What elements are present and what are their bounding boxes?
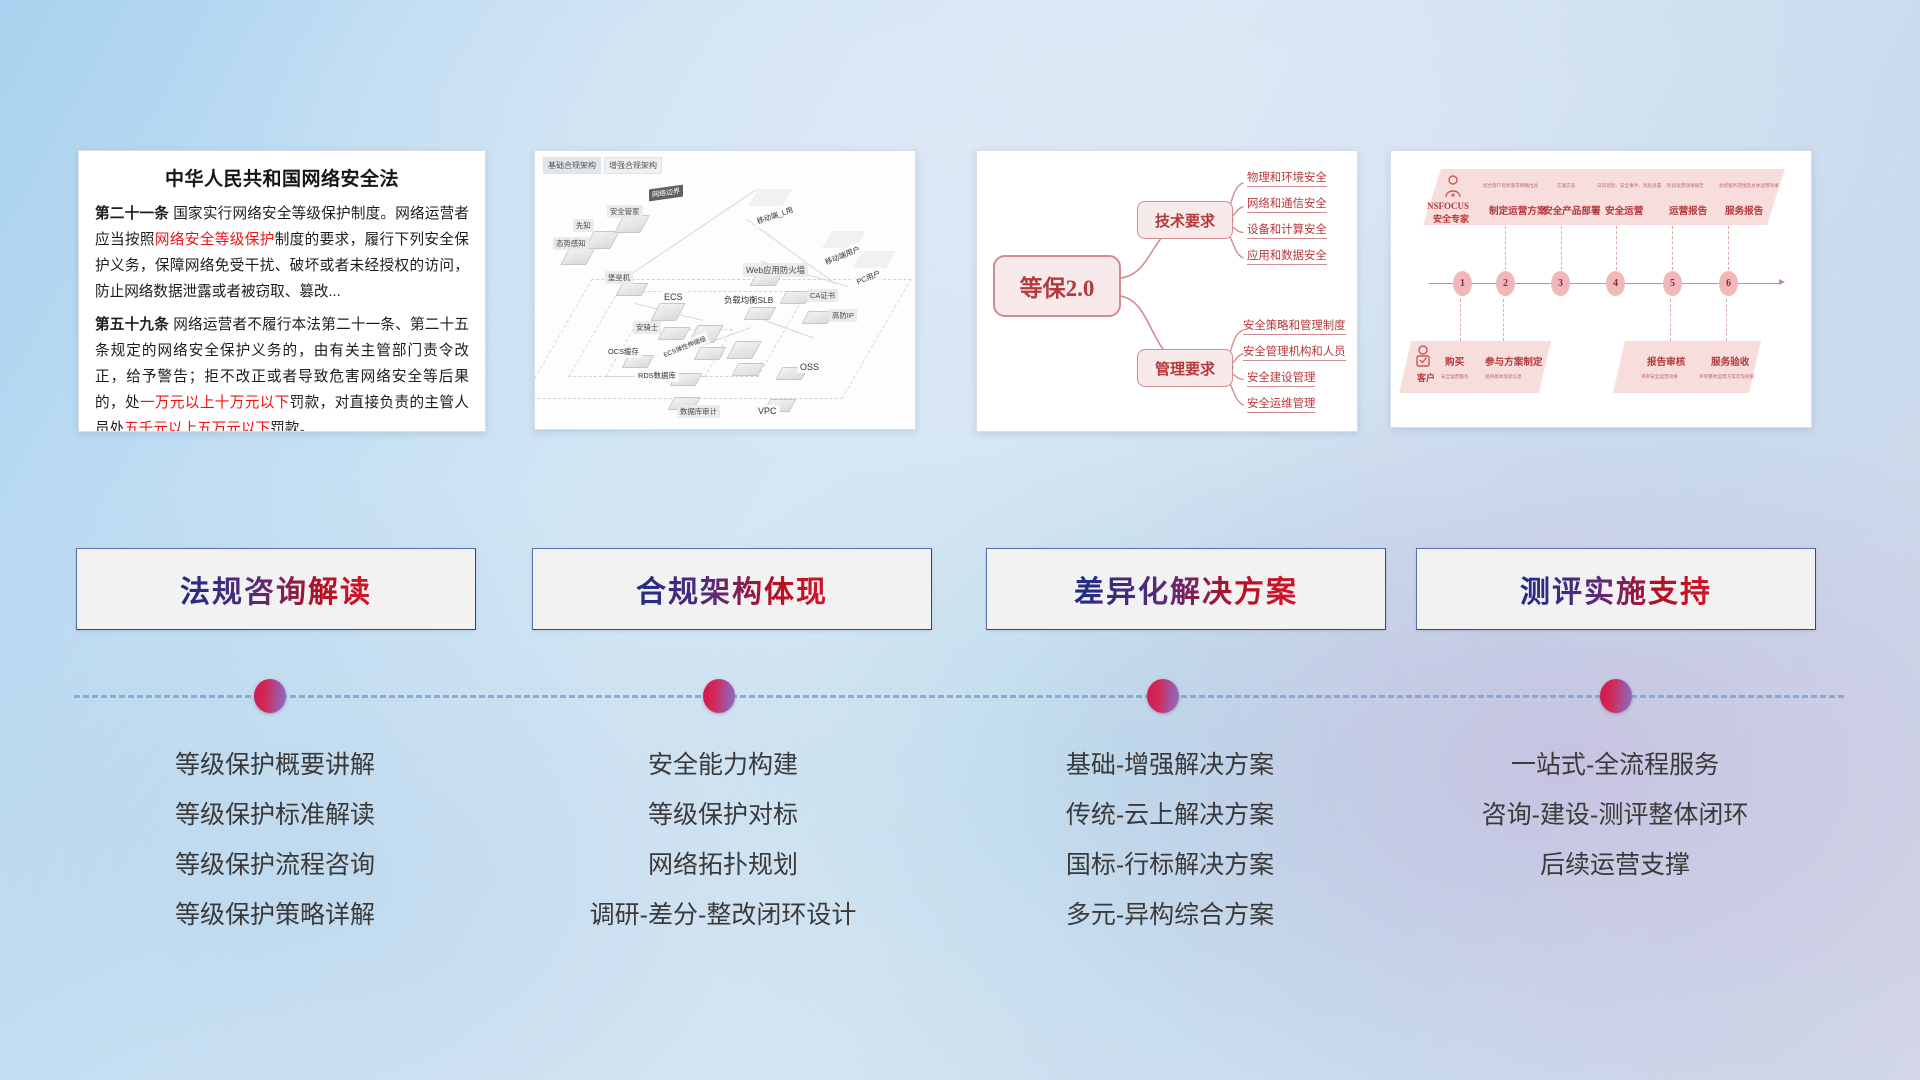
- list-item: 等级保护策略详解: [60, 890, 490, 940]
- architecture-diagram: 基础合规架构 增强合规架构: [535, 151, 915, 429]
- process-axis-arrow-icon: [1779, 279, 1785, 285]
- process-bottom-sub-5: 评审安全运营效果: [1641, 374, 1678, 380]
- customer-person-icon: [1413, 345, 1433, 369]
- list-item: 等级保护标准解读: [60, 790, 490, 840]
- process-title-2: 制定运营方案: [1489, 203, 1547, 217]
- process-bottom-title-2: 参与方案制定: [1485, 354, 1543, 368]
- list-item: 调研-差分-整改闭环设计: [508, 890, 938, 940]
- process-node-4[interactable]: 4: [1606, 271, 1625, 296]
- article-59-highlight-2: 五千元以上五万元以下: [124, 421, 270, 432]
- list-item: 安全能力构建: [508, 740, 938, 790]
- feature-list-4: 一站式-全流程服务 咨询-建设-测评整体闭环 后续运营支撑: [1400, 740, 1830, 890]
- process-sub-5: 阶段运营效果报告: [1667, 183, 1704, 189]
- feature-list-2: 安全能力构建 等级保护对标 网络拓扑规划 调研-差分-整改闭环设计: [508, 740, 938, 940]
- process-title-4: 安全运营: [1605, 203, 1643, 217]
- process-node-2[interactable]: 2: [1496, 271, 1515, 296]
- slide-canvas: 中华人民共和国网络安全法 第二十一条 国家实行网络安全等级保护制度。网络运营者应…: [0, 0, 1920, 1080]
- arch-label-gaofangip: 高防IP: [829, 309, 857, 322]
- dengbao-mindmap: 等保2.0 技术要求 管理要求 物理和环境安全 网络和通信安全 设备和计算安全 …: [977, 151, 1357, 431]
- process-sub-4: 日常巡检、安全事件、高危处置: [1597, 183, 1661, 189]
- list-item: 一站式-全流程服务: [1400, 740, 1830, 790]
- banner-label-1: 法规咨询解读: [180, 567, 372, 611]
- mindmap-leaf-construction-mgmt: 安全建设管理: [1247, 369, 1315, 387]
- mindmap-branch-management[interactable]: 管理要求: [1137, 349, 1233, 387]
- timeline-dashed-line: [74, 695, 1844, 698]
- process-title-3: 安全产品部署: [1543, 203, 1601, 217]
- mindmap-root-node[interactable]: 等保2.0: [993, 255, 1121, 317]
- banner-label-4: 测评实施支持: [1520, 567, 1712, 611]
- list-item: 基础-增强解决方案: [955, 740, 1385, 790]
- arch-label-vpc: VPC: [755, 405, 780, 417]
- mindmap-leaf-network-comm: 网络和通信安全: [1247, 195, 1327, 213]
- arch-label-guanjia: 安全管家: [607, 205, 643, 218]
- list-item: 传统-云上解决方案: [955, 790, 1385, 840]
- process-node-6[interactable]: 6: [1719, 271, 1738, 296]
- process-connector-5-down: [1670, 299, 1671, 341]
- process-connector-6-down: [1726, 299, 1727, 341]
- customer-label: 客户: [1417, 371, 1435, 384]
- banner-differentiated-solution[interactable]: 差异化解决方案: [986, 548, 1386, 630]
- banner-compliance-architecture[interactable]: 合规架构体现: [532, 548, 932, 630]
- process-bottom-sub-1: 安全运营服务: [1441, 374, 1469, 380]
- expert-person-icon: [1443, 175, 1463, 199]
- process-node-5[interactable]: 5: [1663, 271, 1682, 296]
- arch-label-db-audit: 数据库审计: [677, 405, 720, 418]
- article-21-label: 第二十一条: [95, 206, 169, 222]
- law-article-21: 第二十一条 国家实行网络安全等级保护制度。网络运营者应当按照网络安全等级保护制度…: [95, 202, 469, 306]
- law-document-title: 中华人民共和国网络安全法: [95, 164, 469, 191]
- expert-label-line1: NSFOCUS: [1427, 201, 1469, 211]
- expert-label-line2: 安全专家: [1433, 212, 1469, 225]
- list-item: 等级保护对标: [508, 790, 938, 840]
- arch-label-rds: RDS数据库: [635, 369, 679, 382]
- arch-label-mobile-l: 移动端_L用: [752, 202, 798, 229]
- process-bottom-title-6: 服务验收: [1711, 354, 1749, 368]
- process-bottom-title-1: 购买: [1445, 354, 1464, 368]
- banner-label-2: 合规架构体现: [636, 567, 828, 611]
- feature-list-3: 基础-增强解决方案 传统-云上解决方案 国标-行标解决方案 多元-异构综合方案: [955, 740, 1385, 940]
- article-59-text-c: 罚款。: [270, 421, 314, 432]
- service-process-card[interactable]: NSFOCUS 安全专家 结合客户现状需求明确出具 制定运营方案 实施方案 安全…: [1390, 150, 1812, 428]
- mindmap-leaf-device-compute: 设备和计算安全: [1247, 221, 1327, 239]
- process-bottom-sub-2: 提供基本现状信息: [1485, 374, 1522, 380]
- arch-label-bastion: 堡垒机: [605, 271, 633, 284]
- banner-regulation-consulting[interactable]: 法规咨询解读: [76, 548, 476, 630]
- process-bottom-sub-6: 评审整体运营方案实现效果: [1699, 374, 1754, 380]
- arch-label-waf: Web应用防火墙: [743, 263, 808, 277]
- timeline-dot-4[interactable]: [1600, 679, 1632, 713]
- list-item: 多元-异构综合方案: [955, 890, 1385, 940]
- process-node-3[interactable]: 3: [1551, 271, 1570, 296]
- arch-label-oss: OSS: [797, 361, 822, 373]
- mindmap-leaf-app-data: 应用和数据安全: [1247, 247, 1327, 265]
- article-59-label: 第五十九条: [95, 317, 169, 333]
- mindmap-leaf-physical-env: 物理和环境安全: [1247, 169, 1327, 187]
- arch-label-network-boundary: 网络边界: [649, 185, 683, 202]
- process-sub-3: 实施方案: [1557, 183, 1575, 189]
- process-bottom-title-5: 报告审核: [1647, 354, 1685, 368]
- process-sub-2: 结合客户现状需求明确出具: [1483, 183, 1538, 189]
- process-connector-2-down: [1503, 299, 1504, 341]
- process-connector-1-down: [1460, 299, 1461, 341]
- process-connector-2: [1505, 226, 1506, 270]
- process-connector-6: [1728, 226, 1729, 270]
- mindmap-branch-technical[interactable]: 技术要求: [1137, 201, 1233, 239]
- law-document-card[interactable]: 中华人民共和国网络安全法 第二十一条 国家实行网络安全等级保护制度。网络运营者应…: [78, 150, 486, 432]
- arch-cube-xianzhi: [584, 231, 620, 249]
- mindmap-leaf-org-personnel: 安全管理机构和人员: [1243, 343, 1346, 361]
- article-59-highlight-1: 一万元以上十万元以下: [140, 395, 290, 411]
- timeline-dot-2[interactable]: [703, 679, 735, 713]
- timeline-dot-3[interactable]: [1147, 679, 1179, 713]
- process-connector-3: [1561, 226, 1562, 270]
- list-item: 等级保护流程咨询: [60, 840, 490, 890]
- nsfocus-process-diagram: NSFOCUS 安全专家 结合客户现状需求明确出具 制定运营方案 实施方案 安全…: [1391, 151, 1811, 427]
- list-item: 咨询-建设-测评整体闭环: [1400, 790, 1830, 840]
- mindmap-leaf-ops-mgmt: 安全运维管理: [1247, 395, 1315, 413]
- arch-label-xianzhi: 先知: [573, 219, 594, 232]
- arch-label-anqishi: 安骑士: [633, 321, 661, 334]
- feature-list-1: 等级保护概要讲解 等级保护标准解读 等级保护流程咨询 等级保护策略详解: [60, 740, 490, 940]
- process-title-5: 运营报告: [1669, 203, 1707, 217]
- arch-plate-mobile: [748, 189, 792, 206]
- list-item: 等级保护概要讲解: [60, 740, 490, 790]
- arch-label-slb: 负载均衡SLB: [721, 293, 776, 307]
- banner-assessment-support[interactable]: 测评实施支持: [1416, 548, 1816, 630]
- cloud-architecture-card[interactable]: 基础合规架构 增强合规架构: [534, 150, 916, 430]
- law-document-body: 中华人民共和国网络安全法 第二十一条 国家实行网络安全等级保护制度。网络运营者应…: [79, 151, 485, 431]
- arch-link-1: [623, 190, 756, 280]
- arch-label-ecs: ECS: [661, 291, 686, 303]
- process-connector-5: [1672, 226, 1673, 270]
- process-connector-4: [1616, 226, 1617, 270]
- law-article-59: 第五十九条 网络运营者不履行本法第二十一条、第二十五条规定的网络安全保护义务的，…: [95, 313, 469, 432]
- list-item: 网络拓扑规划: [508, 840, 938, 890]
- arch-label-ocs: OCS缓存: [605, 345, 642, 358]
- architecture-canvas: 网络边界 态势感知 先知 安全管家 移动端_L用 堡垒机 ECS 安骑士 Web…: [535, 151, 915, 429]
- banner-label-3: 差异化解决方案: [1074, 567, 1298, 611]
- timeline-dot-1[interactable]: [254, 679, 286, 713]
- list-item: 国标-行标解决方案: [955, 840, 1385, 890]
- mindmap-leaf-policy-system: 安全策略和管理制度: [1243, 317, 1346, 335]
- list-item: 后续运营支撑: [1400, 840, 1830, 890]
- process-title-6: 服务报告: [1725, 203, 1763, 217]
- mindmap-card[interactable]: 等保2.0 技术要求 管理要求 物理和环境安全 网络和通信安全 设备和计算安全 …: [976, 150, 1358, 432]
- arch-label-situational: 态势感知: [553, 237, 589, 250]
- arch-label-ca: CA证书: [807, 289, 838, 302]
- process-node-1[interactable]: 1: [1453, 271, 1472, 296]
- process-sub-6: 总结服务范围及总体运营效果: [1719, 183, 1779, 189]
- article-21-highlight: 网络安全等级保护: [155, 232, 275, 248]
